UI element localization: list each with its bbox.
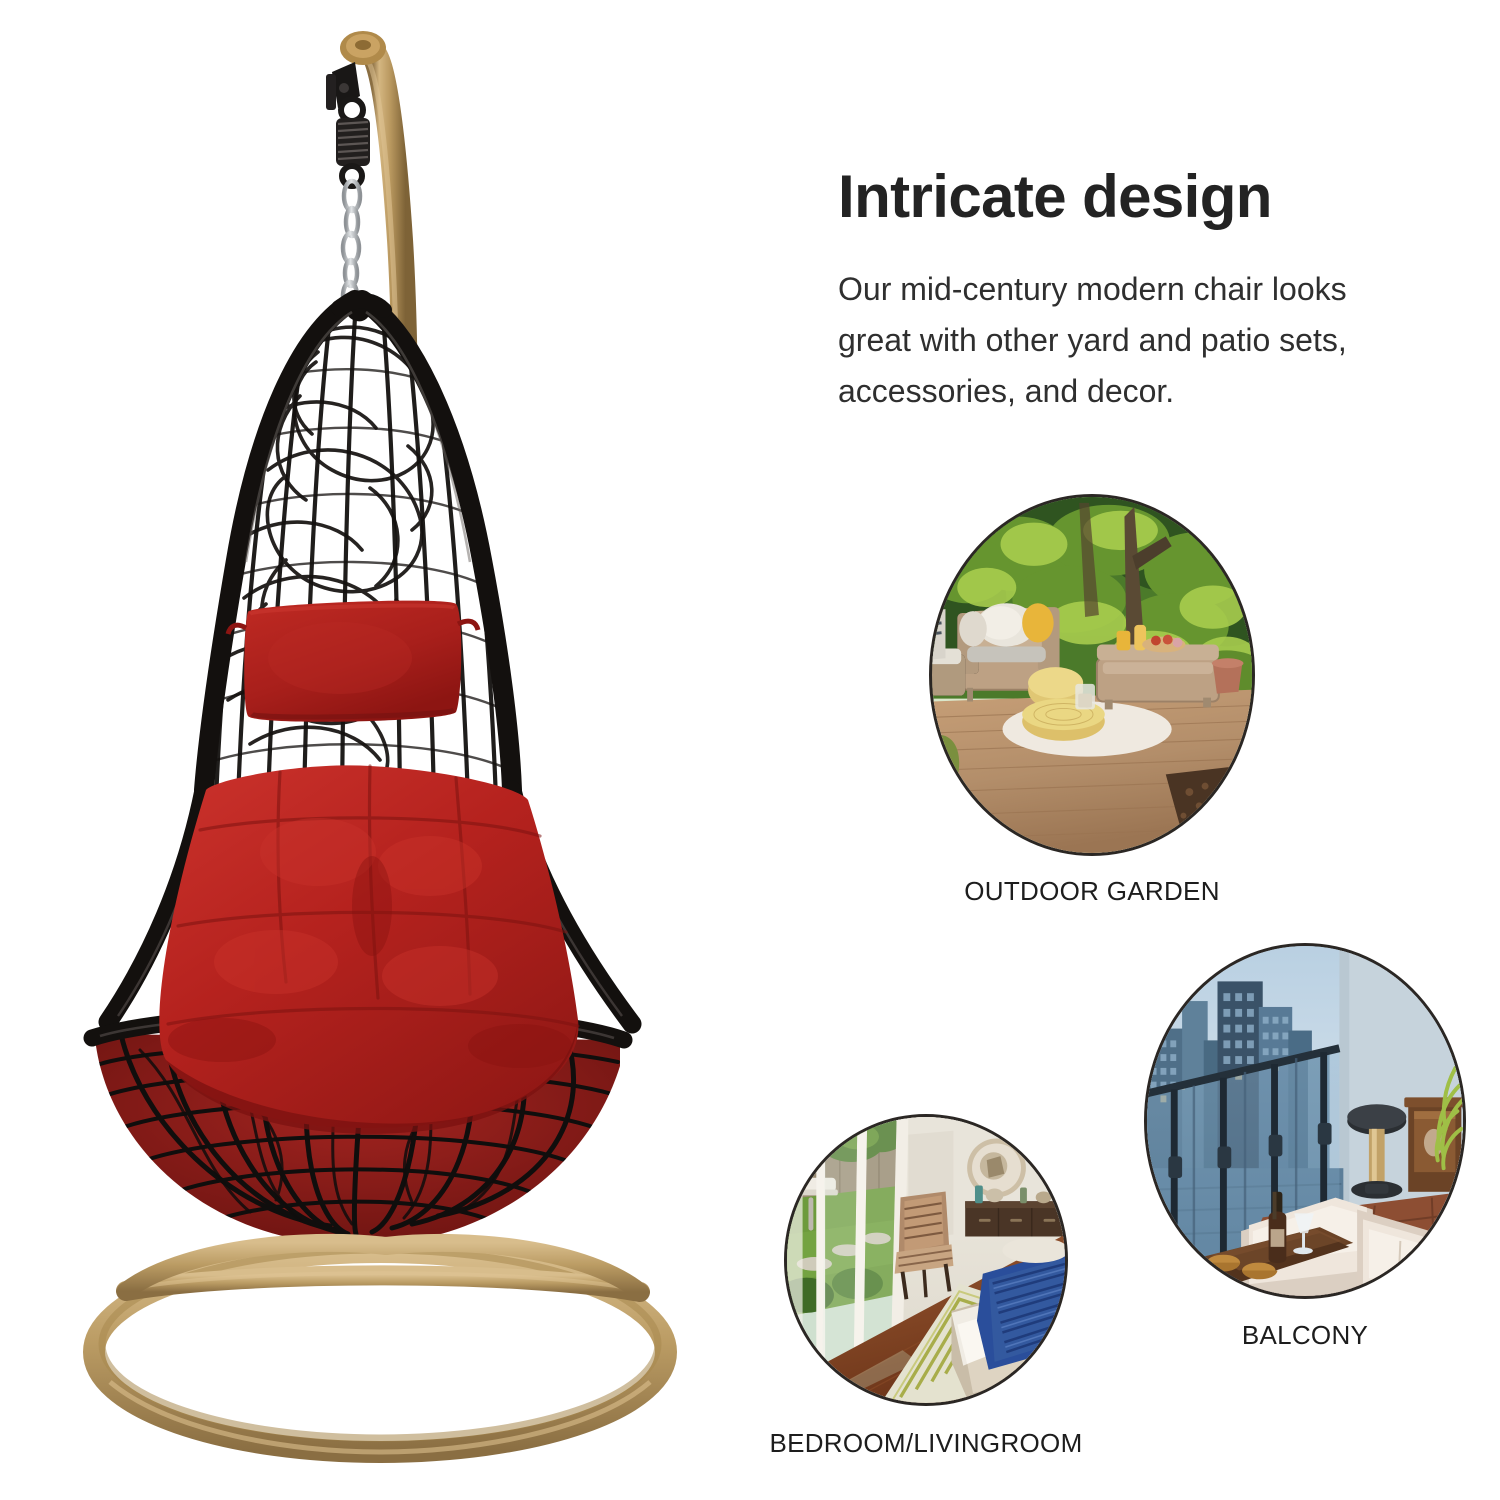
outdoor-garden-illustration (932, 497, 1252, 853)
copy-block: Intricate design Our mid-century modern … (838, 166, 1438, 417)
scene-balcony-image (1144, 943, 1466, 1299)
scene-balcony: BALCONY (1144, 943, 1466, 1299)
description-text: Our mid-century modern chair looks great… (838, 228, 1418, 417)
scene-bedroom-image (784, 1114, 1068, 1406)
scene-outdoor-garden-image (929, 494, 1255, 856)
scene-outdoor-garden: OUTDOOR GARDEN (929, 494, 1255, 856)
bedroom-illustration (787, 1117, 1065, 1403)
scene-label-bedroom: BEDROOM/LIVINGROOM (769, 1428, 1082, 1459)
spring (336, 118, 370, 166)
scene-label-balcony: BALCONY (1242, 1320, 1368, 1351)
balcony-illustration (1147, 946, 1463, 1296)
product-image (0, 0, 760, 1500)
hanging-chair-illustration (0, 0, 760, 1500)
scene-bedroom: BEDROOM/LIVINGROOM (784, 1114, 1068, 1406)
red-head-pillow (228, 601, 478, 722)
scene-label-outdoor-garden: OUTDOOR GARDEN (964, 876, 1220, 907)
red-seat-cushion (159, 765, 578, 1133)
page-title: Intricate design (838, 166, 1438, 228)
